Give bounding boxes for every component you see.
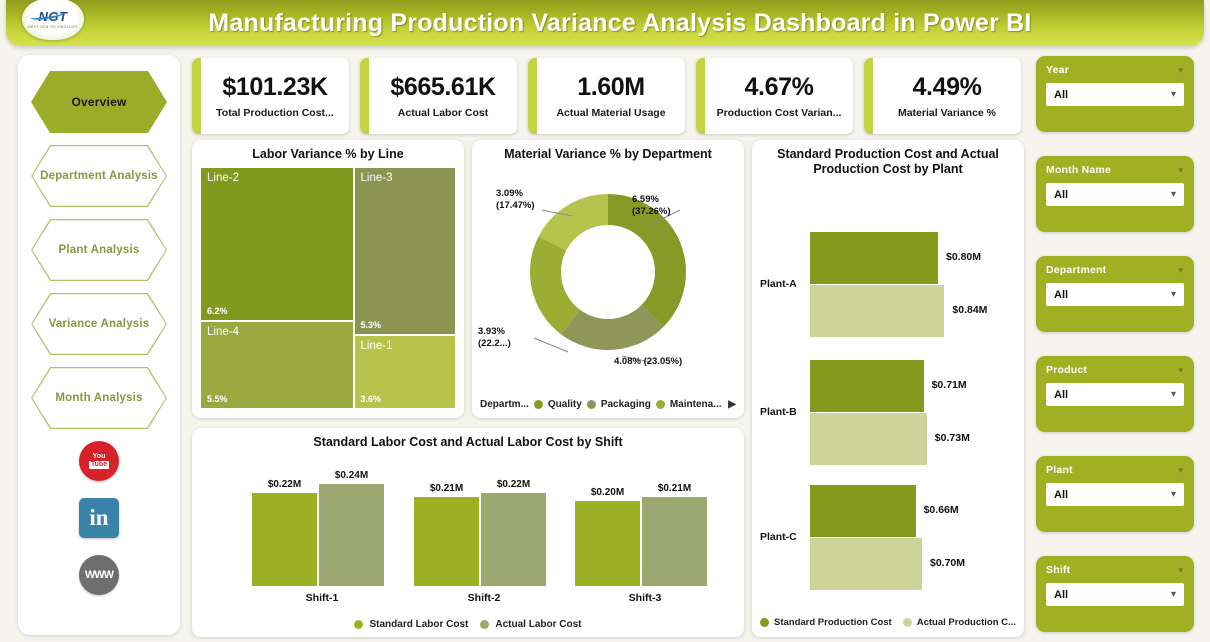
shift-bar-group: $0.22M$0.24MShift-1 [252, 454, 392, 604]
legend-swatch-standard-labor-cost [354, 620, 363, 629]
sidebar-item-plant-analysis[interactable]: Plant Analysis [31, 219, 167, 281]
treemap-category-label: Line-2 [207, 172, 239, 184]
legend-swatch-standard-production-cost [760, 618, 769, 627]
shift-bar[interactable] [414, 497, 479, 586]
treemap-value-label: 5.5% [207, 394, 228, 404]
kpi-value: $101.23K [222, 73, 327, 102]
youtube-icon[interactable]: You Tube [79, 441, 119, 481]
labor-variance-treemap-panel: Labor Variance % by Line Line-26.2%Line-… [192, 140, 464, 418]
treemap-value-label: 6.2% [207, 306, 228, 316]
plant-bar-label: $0.84M [952, 304, 987, 316]
shift-labor-cost-panel: Standard Labor Cost and Actual Labor Cos… [192, 428, 744, 637]
sidebar-item-variance-analysis[interactable]: Variance Analysis [31, 293, 167, 355]
kpi-card-material-variance-pct[interactable]: 4.49% Material Variance % [864, 58, 1021, 134]
chevron-down-icon[interactable]: ▾ [1178, 365, 1183, 376]
plant-category-label: Plant-B [760, 406, 797, 418]
kpi-value: 4.49% [913, 73, 982, 102]
legend-label-actual-labor-cost[interactable]: Actual Labor Cost [495, 619, 581, 630]
slicer-dropdown-shift[interactable]: All ▾ [1046, 583, 1184, 606]
shift-bar[interactable] [481, 493, 546, 586]
slicer-title: Year [1046, 64, 1184, 76]
chevron-down-icon: ▾ [1171, 189, 1176, 200]
plant-bar[interactable] [810, 538, 922, 590]
chevron-down-icon: ▾ [1171, 289, 1176, 300]
slicer-shift[interactable]: Shift ▾ All ▾ [1036, 556, 1194, 632]
plant-production-cost-panel: Standard Production Cost and Actual Prod… [752, 140, 1024, 637]
slicer-dropdown-month-name[interactable]: All ▾ [1046, 183, 1184, 206]
kpi-label: Actual Material Usage [556, 107, 665, 119]
linkedin-glyph: in [89, 505, 108, 531]
kpi-label: Material Variance % [898, 107, 996, 119]
treemap-cell[interactable]: Line-26.2% [201, 168, 353, 320]
treemap-value-label: 3.6% [361, 394, 382, 404]
kpi-label: Total Production Cost... [216, 107, 334, 119]
treemap-plot-area: Line-26.2%Line-35.3%Line-45.5%Line-13.6% [201, 168, 455, 408]
slicer-value: All [1054, 389, 1068, 401]
plant-bar-group: Plant-B$0.71M$0.73M [752, 360, 1024, 468]
slicer-plant[interactable]: Plant ▾ All ▾ [1036, 456, 1194, 532]
kpi-card-total-production-cost[interactable]: $101.23K Total Production Cost... [192, 58, 349, 134]
slicer-value: All [1054, 589, 1068, 601]
social-links: You Tube in WWW [18, 441, 180, 595]
kpi-value: 1.60M [577, 73, 644, 102]
plant-bar-label: $0.66M [924, 504, 959, 516]
slicer-value: All [1054, 89, 1068, 101]
chevron-down-icon[interactable]: ▾ [1178, 465, 1183, 476]
chevron-down-icon[interactable]: ▾ [1178, 265, 1183, 276]
chart-title: Material Variance % by Department [472, 140, 744, 162]
shift-bar[interactable] [575, 501, 640, 586]
sidebar-item-label: Overview [72, 95, 127, 109]
kpi-value: $665.61K [390, 73, 495, 102]
chart-title: Labor Variance % by Line [192, 140, 464, 162]
kpi-card-production-cost-variance[interactable]: 4.67% Production Cost Varian... [696, 58, 853, 134]
kpi-label: Actual Labor Cost [398, 107, 488, 119]
treemap-cell[interactable]: Line-35.3% [355, 168, 456, 334]
kpi-card-row: $101.23K Total Production Cost... $665.6… [192, 58, 1021, 134]
slicer-title: Shift [1046, 564, 1184, 576]
legend-field-name: Departm... [480, 399, 529, 410]
legend-label-standard-labor-cost[interactable]: Standard Labor Cost [369, 619, 468, 630]
youtube-label-bottom: Tube [89, 461, 109, 469]
sidebar-item-label: Department Analysis [40, 170, 158, 182]
dashboard-root: NGT NEXT GEN TECHNOLOGY Manufacturing Pr… [0, 0, 1210, 642]
company-logo: NGT NEXT GEN TECHNOLOGY [22, 0, 84, 40]
left-navigation-panel: Overview Department Analysis Plant Analy… [18, 55, 180, 635]
shift-category-label: Shift-3 [575, 592, 715, 604]
slicer-dropdown-department[interactable]: All ▾ [1046, 283, 1184, 306]
slicer-value: All [1054, 289, 1068, 301]
slicer-product[interactable]: Product ▾ All ▾ [1036, 356, 1194, 432]
shift-bar-label: $0.22M [481, 479, 546, 490]
chevron-down-icon[interactable]: ▾ [1178, 165, 1183, 176]
donut-legend: Departm... Quality Packaging Maintena...… [480, 399, 736, 410]
legend-swatch-quality [534, 400, 543, 409]
kpi-card-actual-material-usage[interactable]: 1.60M Actual Material Usage [528, 58, 685, 134]
sidebar-item-label: Month Analysis [55, 392, 142, 404]
shift-bar-group: $0.21M$0.22MShift-2 [414, 454, 554, 604]
plant-category-label: Plant-C [760, 531, 797, 543]
legend-label-maintenance[interactable]: Maintena... [670, 399, 722, 410]
shift-bar[interactable] [252, 493, 317, 586]
plant-bar[interactable] [810, 232, 938, 284]
chevron-down-icon: ▾ [1171, 589, 1176, 600]
shift-bar-label: $0.22M [252, 479, 317, 490]
chevron-down-icon: ▾ [1171, 389, 1176, 400]
slicer-department[interactable]: Department ▾ All ▾ [1036, 256, 1194, 332]
slicer-month-name[interactable]: Month Name ▾ All ▾ [1036, 156, 1194, 232]
sidebar-item-label: Plant Analysis [59, 244, 140, 256]
sidebar-item-month-analysis[interactable]: Month Analysis [31, 367, 167, 429]
chevron-down-icon[interactable]: ▾ [1178, 65, 1183, 76]
shift-plot-area: $0.22M$0.24MShift-1$0.21M$0.22MShift-2$0… [192, 454, 744, 604]
website-glyph: WWW [85, 569, 113, 581]
legend-swatch-actual-production-cost [903, 618, 912, 627]
chevron-down-icon: ▾ [1171, 489, 1176, 500]
slicer-title: Department [1046, 264, 1184, 276]
legend-label-packaging[interactable]: Packaging [601, 399, 651, 410]
legend-swatch-actual-labor-cost [480, 620, 489, 629]
shift-category-label: Shift-2 [414, 592, 554, 604]
kpi-label: Production Cost Varian... [717, 107, 842, 119]
chart-title: Standard Production Cost and Actual Prod… [752, 140, 1024, 177]
plant-bar-label: $0.70M [930, 557, 965, 569]
donut-data-label: 6.59% (37.26%) [632, 194, 727, 218]
filter-panel: Year ▾ All ▾ Month Name ▾ All ▾ Departme… [1036, 56, 1194, 642]
plant-bar[interactable] [810, 285, 944, 337]
slicer-dropdown-year[interactable]: All ▾ [1046, 83, 1184, 106]
page-title: Manufacturing Production Variance Analys… [6, 9, 1204, 38]
legend-label-standard-production-cost[interactable]: Standard Production Cost [774, 617, 892, 628]
plant-bar-group: Plant-C$0.66M$0.70M [752, 485, 1024, 593]
sidebar-item-department-analysis[interactable]: Department Analysis [31, 145, 167, 207]
plant-bar[interactable] [810, 485, 916, 537]
slicer-dropdown-product[interactable]: All ▾ [1046, 383, 1184, 406]
chart-title: Standard Labor Cost and Actual Labor Cos… [192, 428, 744, 450]
legend-label-actual-production-cost[interactable]: Actual Production C... [917, 617, 1016, 628]
linkedin-icon[interactable]: in [79, 498, 119, 538]
sidebar-item-overview[interactable]: Overview [31, 71, 167, 133]
legend-swatch-maintenance [656, 400, 665, 409]
slicer-value: All [1054, 189, 1068, 201]
material-variance-donut-panel: Material Variance % by Department 6.59% … [472, 140, 744, 418]
plant-category-label: Plant-A [760, 278, 797, 290]
dashboard-header: NGT NEXT GEN TECHNOLOGY Manufacturing Pr… [6, 0, 1204, 46]
shift-bar-label: $0.20M [575, 487, 640, 498]
plant-bar[interactable] [810, 413, 927, 465]
shift-category-label: Shift-1 [252, 592, 392, 604]
slicer-title: Month Name [1046, 164, 1184, 176]
treemap-cell[interactable]: Line-45.5% [201, 322, 353, 409]
treemap-value-label: 5.3% [361, 320, 382, 330]
shift-bar[interactable] [642, 497, 707, 586]
slicer-title: Plant [1046, 464, 1184, 476]
slicer-year[interactable]: Year ▾ All ▾ [1036, 56, 1194, 132]
treemap-cell[interactable]: Line-13.6% [355, 336, 456, 409]
shift-bar-label: $0.21M [414, 483, 479, 494]
kpi-card-actual-labor-cost[interactable]: $665.61K Actual Labor Cost [360, 58, 517, 134]
plant-bar[interactable] [810, 360, 924, 412]
legend-swatch-packaging [587, 400, 596, 409]
shift-legend: Standard Labor Cost Actual Labor Cost [192, 619, 744, 630]
chevron-down-icon[interactable]: ▾ [1178, 565, 1183, 576]
sidebar-item-label: Variance Analysis [49, 318, 150, 330]
slicer-title: Product [1046, 364, 1184, 376]
treemap-category-label: Line-3 [361, 172, 393, 184]
donut-data-label: 4.08% (23.05%) [614, 356, 734, 368]
plant-bar-label: $0.80M [946, 251, 981, 263]
plant-bar-label: $0.73M [935, 432, 970, 444]
youtube-label-top: You [93, 453, 106, 461]
plant-bar-group: Plant-A$0.80M$0.84M [752, 232, 1024, 340]
shift-bar-label: $0.21M [642, 483, 707, 494]
donut-data-label: 3.09% (17.47%) [496, 188, 586, 212]
chevron-down-icon: ▾ [1171, 89, 1176, 100]
legend-label-quality[interactable]: Quality [548, 399, 582, 410]
logo-subtitle: NEXT GEN TECHNOLOGY [28, 25, 78, 29]
website-icon[interactable]: WWW [79, 555, 119, 595]
legend-next-arrow-icon[interactable]: ▶ [728, 399, 736, 410]
plant-legend: Standard Production Cost Actual Producti… [760, 617, 1016, 628]
shift-bar-group: $0.20M$0.21MShift-3 [575, 454, 715, 604]
shift-bar[interactable] [319, 484, 384, 586]
treemap-category-label: Line-4 [207, 326, 239, 338]
donut-data-label: 3.93% (22.2...) [478, 326, 558, 350]
slicer-value: All [1054, 489, 1068, 501]
slicer-dropdown-plant[interactable]: All ▾ [1046, 483, 1184, 506]
donut-plot-area: 6.59% (37.26%)4.08% (23.05%)3.93% (22.2.… [472, 166, 744, 384]
treemap-category-label: Line-1 [361, 340, 393, 352]
kpi-value: 4.67% [745, 73, 814, 102]
shift-bar-label: $0.24M [319, 470, 384, 481]
plant-bar-label: $0.71M [932, 379, 967, 391]
